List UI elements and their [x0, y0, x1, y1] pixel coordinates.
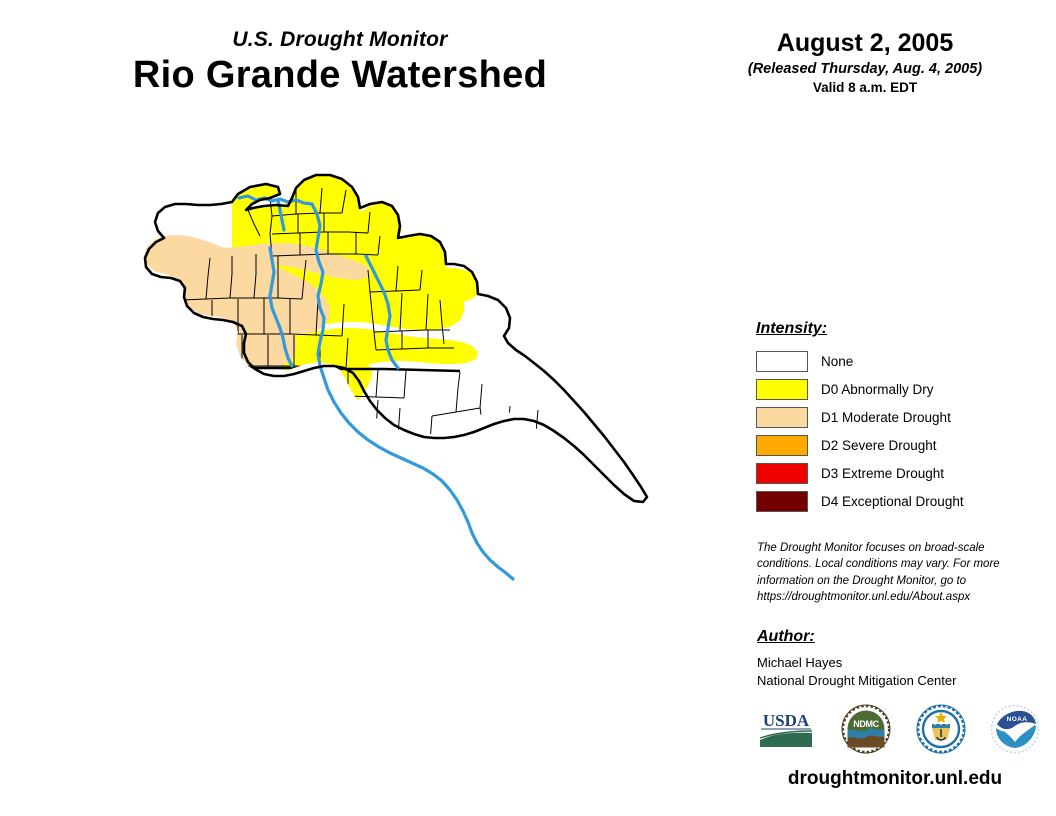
legend-label-none: None	[821, 354, 853, 369]
partner-logos: USDA NDMC	[755, 702, 1040, 760]
disclaimer-text: The Drought Monitor focuses on broad-sca…	[757, 540, 1019, 605]
svg-text:NOAA: NOAA	[1007, 716, 1028, 723]
d1-west-notch	[122, 342, 150, 386]
legend-swatch-d0	[756, 379, 808, 400]
d1-southern-tail-2	[534, 628, 594, 682]
d2-big-bend-corridor	[520, 610, 576, 666]
map-date: August 2, 2005	[700, 30, 1030, 58]
legend: Intensity: None D0 Abnormally Dry D1 Mod…	[756, 320, 1036, 515]
legend-swatch-none	[756, 351, 808, 372]
page-title: Rio Grande Watershed	[60, 54, 620, 98]
legend-label-d0: D0 Abnormally Dry	[821, 382, 934, 397]
legend-label-d4: D4 Exceptional Drought	[821, 494, 964, 509]
legend-item-d2[interactable]: D2 Severe Drought	[756, 431, 1036, 459]
d2-severe-drought-region	[499, 586, 584, 666]
noaa-logo[interactable]: NOAA	[990, 704, 1040, 759]
d2-big-bend-corridor-2	[499, 586, 537, 628]
title-block: U.S. Drought Monitor Rio Grande Watershe…	[60, 28, 620, 98]
d1-southern-tail	[550, 652, 647, 714]
rio-grande-watershed-drought-map[interactable]	[120, 160, 650, 810]
author-heading: Author:	[757, 628, 1037, 646]
svg-text:USDA: USDA	[763, 711, 810, 730]
legend-label-d3: D3 Extreme Drought	[821, 466, 944, 481]
legend-label-d2: D2 Severe Drought	[821, 438, 937, 453]
legend-item-d1[interactable]: D1 Moderate Drought	[756, 403, 1036, 431]
legend-swatch-d4	[756, 491, 808, 512]
author-name: Michael Hayes	[757, 654, 1037, 672]
legend-label-d1: D1 Moderate Drought	[821, 410, 951, 425]
legend-item-none[interactable]: None	[756, 347, 1036, 375]
legend-swatch-d2	[756, 435, 808, 456]
legend-item-d3[interactable]: D3 Extreme Drought	[756, 459, 1036, 487]
legend-item-d0[interactable]: D0 Abnormally Dry	[756, 375, 1036, 403]
d0-lower-rio-grande-patch	[496, 568, 542, 617]
legend-swatch-d1	[756, 407, 808, 428]
map-valid-time: Valid 8 a.m. EDT	[700, 81, 1030, 96]
site-url[interactable]: droughtmonitor.unl.edu	[740, 768, 1050, 790]
author-block: Author: Michael Hayes National Drought M…	[757, 628, 1037, 689]
drought-monitor-map-page: U.S. Drought Monitor Rio Grande Watershe…	[0, 0, 1056, 816]
nws-logo[interactable]	[916, 704, 966, 759]
legend-swatch-d3	[756, 463, 808, 484]
date-block: August 2, 2005 (Released Thursday, Aug. …	[700, 30, 1030, 96]
page-subtitle: U.S. Drought Monitor	[60, 28, 620, 51]
legend-title: Intensity:	[756, 320, 1036, 338]
svg-text:NDMC: NDMC	[854, 719, 880, 729]
legend-item-d4[interactable]: D4 Exceptional Drought	[756, 487, 1036, 515]
author-organization: National Drought Mitigation Center	[757, 672, 1037, 690]
ndmc-logo[interactable]: NDMC	[841, 704, 891, 759]
d2-big-bend-wide	[540, 618, 584, 661]
map-release-date: (Released Thursday, Aug. 4, 2005)	[700, 62, 1030, 78]
usda-logo[interactable]: USDA	[755, 709, 817, 754]
